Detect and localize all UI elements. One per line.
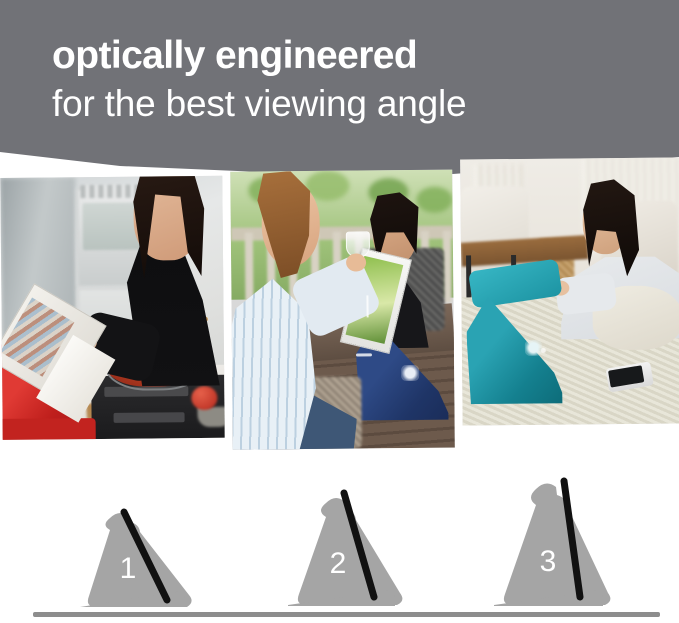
promo-page: optically engineered for the best viewin… xyxy=(0,0,679,623)
stand-position-3: 3 xyxy=(478,475,628,615)
stand-number-1: 1 xyxy=(120,552,137,585)
photo-living-room-rug xyxy=(460,157,679,425)
photo-kitchen-cookbook xyxy=(0,176,225,440)
page-title: optically engineered xyxy=(52,34,417,78)
angle-diagram: 1 2 3 xyxy=(0,450,679,623)
stand-number-2: 2 xyxy=(330,547,347,580)
page-subtitle: for the best viewing angle xyxy=(52,82,466,126)
ground-line xyxy=(33,612,660,617)
stand-position-1: 1 xyxy=(66,500,216,615)
photo-patio-tablet xyxy=(230,170,455,450)
stand-position-2: 2 xyxy=(272,485,422,615)
wedge-shape-3 xyxy=(504,483,611,605)
photo-strip xyxy=(0,143,679,450)
stand-number-3: 3 xyxy=(540,545,557,578)
